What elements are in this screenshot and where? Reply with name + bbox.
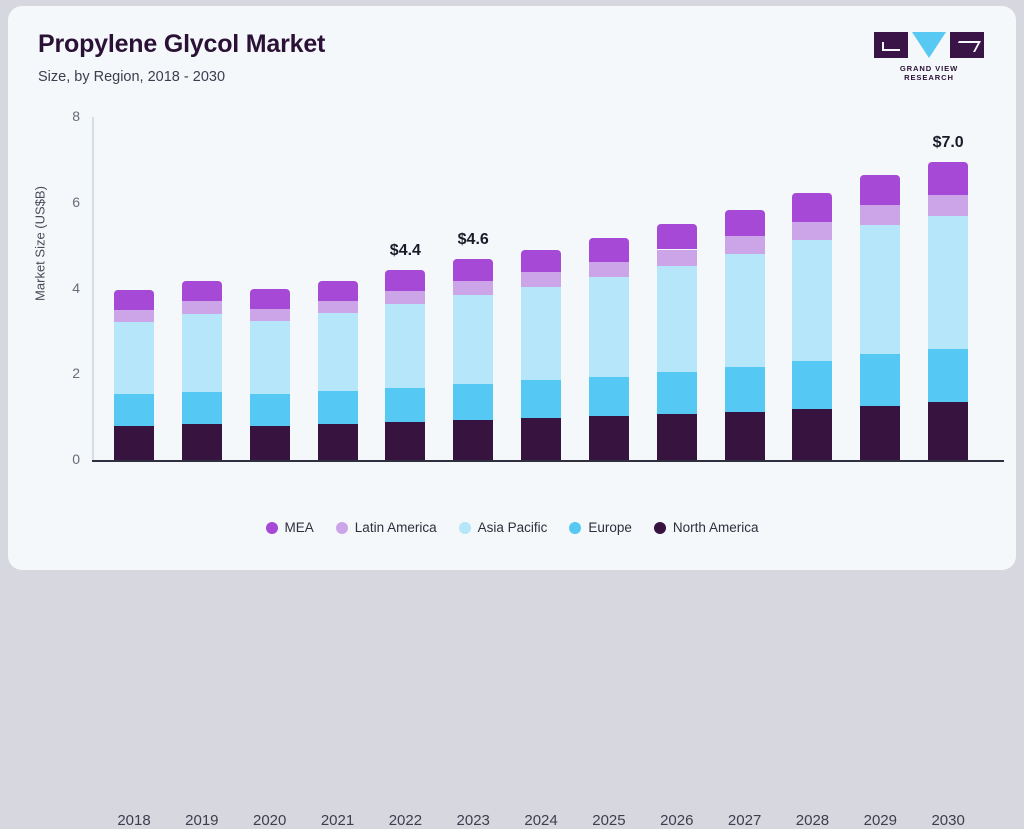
bar-segment-latin-america[interactable]: [725, 236, 765, 254]
bar-segment-north-america[interactable]: [385, 422, 425, 460]
bar-segment-europe[interactable]: [250, 394, 290, 425]
bar-segment-asia-pacific[interactable]: [725, 254, 765, 367]
legend-swatch-icon: [654, 522, 666, 534]
bar-segment-north-america[interactable]: [318, 424, 358, 460]
bar-segment-mea[interactable]: [521, 250, 561, 273]
bar-segment-mea[interactable]: [385, 270, 425, 291]
bar-segment-latin-america[interactable]: [250, 309, 290, 321]
legend-swatch-icon: [336, 522, 348, 534]
bar-segment-latin-america[interactable]: [657, 250, 697, 266]
legend-label: North America: [673, 520, 759, 535]
bar-segment-north-america[interactable]: [182, 424, 222, 460]
bar-value-label-2030: $7.0: [893, 134, 1003, 152]
bar-segment-latin-america[interactable]: [860, 205, 900, 225]
bar-segment-asia-pacific[interactable]: [792, 240, 832, 361]
bar-segment-europe[interactable]: [725, 367, 765, 412]
bar-segment-asia-pacific[interactable]: [250, 321, 290, 395]
chart-plot-area: Market Size (US$B) 02468 201820192020202…: [8, 6, 1016, 570]
legend-item-asia-pacific[interactable]: Asia Pacific: [459, 520, 548, 535]
x-axis-tick-2030: 2030: [903, 812, 993, 829]
chart-card: Propylene Glycol Market Size, by Region,…: [8, 6, 1016, 570]
bar-segment-latin-america[interactable]: [589, 262, 629, 277]
bar-segment-asia-pacific[interactable]: [928, 216, 968, 349]
bar-segment-europe[interactable]: [385, 388, 425, 422]
legend-swatch-icon: [459, 522, 471, 534]
bar-series-container: 2018201920202021$4.42022$4.6202320242025…: [92, 117, 1004, 460]
bar-segment-mea[interactable]: [792, 193, 832, 221]
bar-segment-mea[interactable]: [657, 224, 697, 249]
bar-segment-asia-pacific[interactable]: [114, 322, 154, 395]
legend-item-latin-america[interactable]: Latin America: [336, 520, 437, 535]
y-axis-tick-2: 2: [46, 365, 80, 381]
bar-segment-mea[interactable]: [725, 210, 765, 237]
bar-segment-europe[interactable]: [792, 361, 832, 409]
bar-segment-asia-pacific[interactable]: [589, 277, 629, 376]
y-axis-tick-6: 6: [46, 194, 80, 210]
legend-label: Latin America: [355, 520, 437, 535]
legend-swatch-icon: [266, 522, 278, 534]
legend-label: Asia Pacific: [478, 520, 548, 535]
bar-segment-asia-pacific[interactable]: [453, 295, 493, 384]
y-axis-tick-4: 4: [46, 280, 80, 296]
bar-segment-asia-pacific[interactable]: [860, 225, 900, 354]
chart-legend: MEALatin AmericaAsia PacificEuropeNorth …: [8, 520, 1016, 535]
x-axis-baseline: [92, 460, 1004, 462]
legend-label: MEA: [285, 520, 314, 535]
bar-segment-north-america[interactable]: [792, 409, 832, 460]
bar-segment-mea[interactable]: [589, 238, 629, 262]
bar-segment-mea[interactable]: [182, 281, 222, 301]
bar-segment-asia-pacific[interactable]: [657, 266, 697, 372]
bar-segment-europe[interactable]: [182, 392, 222, 425]
bar-segment-north-america[interactable]: [860, 406, 900, 460]
bar-segment-europe[interactable]: [318, 391, 358, 424]
bar-segment-latin-america[interactable]: [385, 291, 425, 304]
bar-segment-north-america[interactable]: [453, 420, 493, 460]
bar-segment-mea[interactable]: [114, 290, 154, 309]
bar-segment-latin-america[interactable]: [318, 301, 358, 313]
y-axis-tick-0: 0: [46, 451, 80, 467]
bar-segment-europe[interactable]: [521, 380, 561, 418]
bar-segment-north-america[interactable]: [589, 416, 629, 460]
legend-swatch-icon: [569, 522, 581, 534]
bar-segment-europe[interactable]: [453, 384, 493, 420]
bar-segment-asia-pacific[interactable]: [182, 314, 222, 392]
bar-segment-north-america[interactable]: [250, 426, 290, 460]
bar-segment-latin-america[interactable]: [928, 195, 968, 215]
bar-segment-mea[interactable]: [453, 259, 493, 281]
bar-segment-latin-america[interactable]: [182, 301, 222, 313]
bar-segment-mea[interactable]: [318, 281, 358, 301]
bar-segment-asia-pacific[interactable]: [318, 313, 358, 391]
bar-segment-mea[interactable]: [928, 162, 968, 196]
bar-segment-latin-america[interactable]: [114, 310, 154, 322]
bar-segment-europe[interactable]: [860, 354, 900, 405]
bar-segment-europe[interactable]: [657, 372, 697, 414]
legend-item-north-america[interactable]: North America: [654, 520, 759, 535]
bar-segment-europe[interactable]: [928, 349, 968, 403]
bar-segment-mea[interactable]: [250, 289, 290, 308]
legend-label: Europe: [588, 520, 632, 535]
bar-segment-north-america[interactable]: [725, 412, 765, 460]
legend-item-europe[interactable]: Europe: [569, 520, 632, 535]
bar-segment-north-america[interactable]: [657, 414, 697, 460]
bar-segment-latin-america[interactable]: [453, 281, 493, 295]
bar-segment-latin-america[interactable]: [792, 222, 832, 240]
bar-segment-north-america[interactable]: [114, 426, 154, 460]
bar-segment-europe[interactable]: [114, 394, 154, 425]
bar-segment-asia-pacific[interactable]: [521, 287, 561, 380]
bar-segment-north-america[interactable]: [521, 418, 561, 460]
bar-segment-north-america[interactable]: [928, 402, 968, 460]
bar-segment-latin-america[interactable]: [521, 272, 561, 287]
bar-value-label-2023: $4.6: [418, 231, 528, 249]
bar-segment-europe[interactable]: [589, 377, 629, 416]
bar-segment-mea[interactable]: [860, 175, 900, 205]
y-axis-ticks: 02468: [44, 6, 80, 570]
legend-item-mea[interactable]: MEA: [266, 520, 314, 535]
y-axis-tick-8: 8: [46, 108, 80, 124]
bar-segment-asia-pacific[interactable]: [385, 304, 425, 388]
